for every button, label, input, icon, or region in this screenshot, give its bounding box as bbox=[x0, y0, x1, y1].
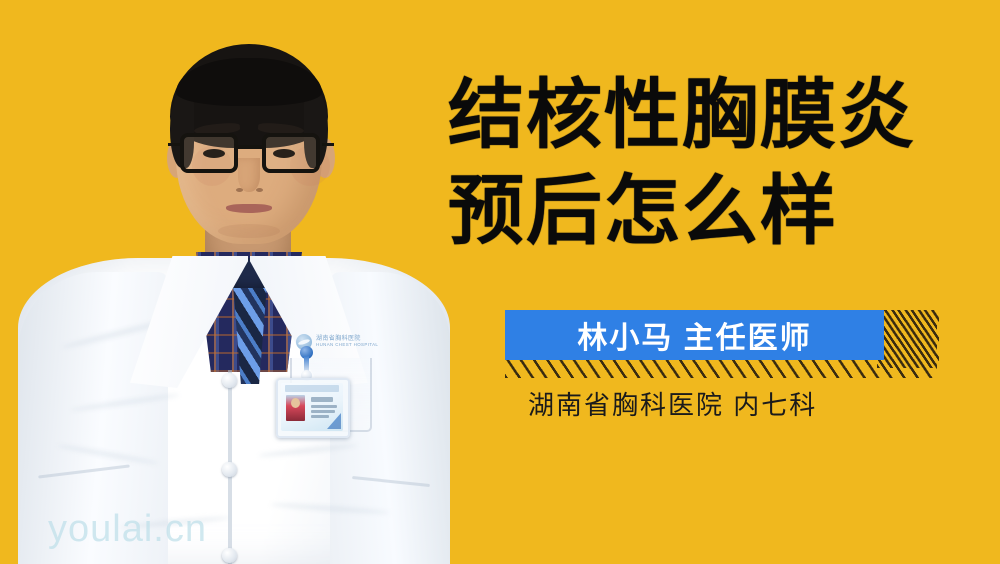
glasses-icon bbox=[178, 133, 324, 179]
doctor-name-banner: 林小马 主任医师 bbox=[505, 310, 884, 360]
id-badge-detail-line bbox=[311, 415, 329, 418]
nostril-right bbox=[256, 188, 263, 192]
id-badge-card bbox=[281, 383, 343, 431]
doctor-name-title-label: 林小马 主任医师 bbox=[577, 313, 811, 357]
eye-right bbox=[273, 149, 295, 158]
hospital-logo-text-cn: 湖南省胸科医院 bbox=[316, 333, 361, 342]
glasses-temple-right bbox=[322, 143, 334, 146]
page-title: 结核性胸膜炎 预后怎么样 bbox=[448, 68, 916, 260]
id-badge-photo bbox=[286, 395, 305, 421]
mouth bbox=[226, 204, 272, 213]
eye-left bbox=[203, 149, 225, 158]
hatch-decoration-right bbox=[877, 310, 939, 368]
glasses-temple-left bbox=[168, 143, 180, 146]
title-line-2: 预后怎么样 bbox=[448, 164, 916, 260]
hospital-logo-text-en: HUNAN CHEST HOSPITAL bbox=[316, 342, 378, 347]
id-badge-detail-line bbox=[311, 410, 335, 413]
lab-coat-button bbox=[222, 548, 237, 563]
id-badge-name-line bbox=[311, 397, 333, 402]
id-badge-header-bar bbox=[285, 385, 339, 392]
doctor-name-banner-group: 林小马 主任医师 bbox=[505, 310, 965, 378]
poster-canvas: 湖南省胸科医院 HUNAN CHEST HOSPITAL youlai.cn 结… bbox=[0, 0, 1000, 564]
nostril-left bbox=[236, 188, 243, 192]
lab-coat-button bbox=[222, 462, 237, 477]
id-badge-detail-line bbox=[311, 405, 337, 408]
affiliation-label: 湖南省胸科医院 内七科 bbox=[528, 385, 817, 422]
doctor-portrait-photo: 湖南省胸科医院 HUNAN CHEST HOSPITAL bbox=[0, 0, 470, 564]
id-badge-corner-graphic bbox=[327, 413, 341, 429]
title-line-1: 结核性胸膜炎 bbox=[448, 68, 916, 164]
glasses-bridge bbox=[237, 145, 264, 149]
lab-coat-button bbox=[222, 373, 237, 388]
chin-shadow bbox=[218, 224, 280, 238]
site-watermark: youlai.cn bbox=[48, 508, 207, 551]
id-badge bbox=[276, 378, 350, 438]
